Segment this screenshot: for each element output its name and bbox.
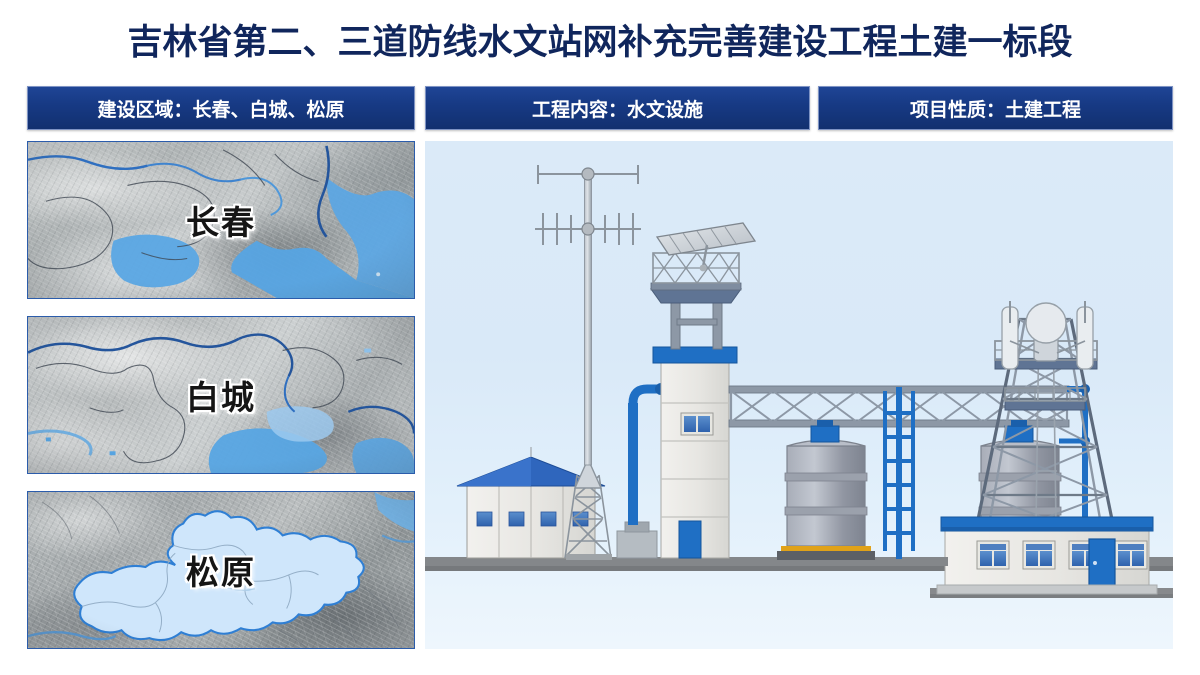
header-bar-project-content[interactable]: 工程内容：水文设施 xyxy=(425,86,810,130)
ground-pump-left xyxy=(617,383,667,558)
water-treatment-tank-left xyxy=(777,420,875,560)
header-bar-project-nature[interactable]: 项目性质：土建工程 xyxy=(818,86,1173,130)
header-bar-label: 项目性质：土建工程 xyxy=(910,95,1081,122)
map-thumbnail-changchun[interactable]: 长春 xyxy=(27,141,415,299)
header-bar-label: 建设区域：长春、白城、松原 xyxy=(97,95,344,122)
illustration-vector xyxy=(425,141,1173,649)
station-building xyxy=(937,517,1157,594)
solar-panel-array xyxy=(657,223,755,271)
map-label-songyuan: 松原 xyxy=(28,546,414,594)
header-bar-group: 建设区域：长春、白城、松原 工程内容：水文设施 项目性质：土建工程 xyxy=(0,86,1200,130)
map-thumbnail-songyuan[interactable]: 松原 xyxy=(27,491,415,649)
map-thumbnail-baicheng[interactable]: 白城 xyxy=(27,316,415,474)
hydrological-station-illustration xyxy=(425,141,1173,649)
map-label-changchun: 长春 xyxy=(28,196,414,244)
page-title: 吉林省第二、三道防线水文站网补充完善建设工程土建一标段 xyxy=(0,14,1200,65)
header-bar-label: 工程内容：水文设施 xyxy=(532,95,703,122)
map-thumbnail-column: 长春 xyxy=(27,141,415,649)
header-bar-construction-area[interactable]: 建设区域：长春、白城、松原 xyxy=(27,86,415,130)
map-label-baicheng: 白城 xyxy=(28,371,414,419)
slide-root: 吉林省第二、三道防线水文站网补充完善建设工程土建一标段 建设区域：长春、白城、松… xyxy=(0,0,1200,675)
